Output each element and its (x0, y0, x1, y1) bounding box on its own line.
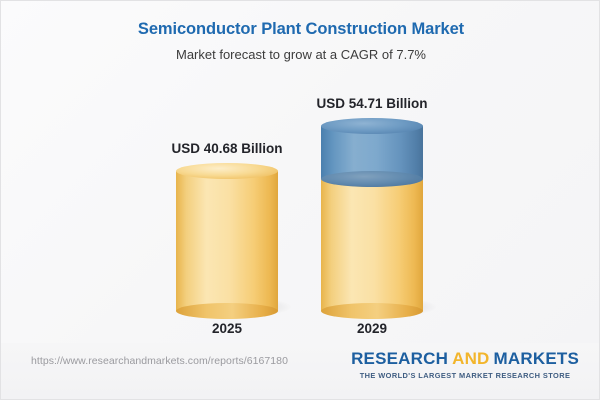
logo-research-text: RESEARCH (351, 349, 448, 368)
chart-plot-area: USD 40.68 Billion 2025 USD 54.71 Billion (1, 1, 600, 400)
cylinder-growth-2029 (321, 118, 423, 187)
footer: https://www.researchandmarkets.com/repor… (1, 343, 600, 399)
logo-and-text: AND (452, 349, 489, 368)
logo-markets-text: MARKETS (494, 349, 579, 368)
cylinder-growth-bottom-2029 (321, 171, 423, 187)
value-label-2029: USD 54.71 Billion (262, 96, 482, 111)
cylinder-top-2025 (176, 163, 278, 179)
cylinder-base-body-2029 (321, 179, 423, 311)
cylinder-growth-top-2029 (321, 118, 423, 134)
cylinder-body-2025 (176, 171, 278, 311)
report-url[interactable]: https://www.researchandmarkets.com/repor… (31, 355, 288, 367)
logo-tagline: THE WORLD'S LARGEST MARKET RESEARCH STOR… (351, 370, 579, 381)
logo-wordmark: RESEARCHANDMARKETS (351, 349, 579, 369)
cylinder-2025 (176, 163, 278, 319)
value-label-2025: USD 40.68 Billion (117, 141, 337, 156)
cylinder-base-2029 (321, 171, 423, 319)
category-label-2029: 2029 (262, 321, 482, 336)
infographic-card: Semiconductor Plant Construction Market … (0, 0, 600, 400)
cylinder-base-bottom-2029 (321, 303, 423, 319)
cylinder-bottom-2025 (176, 303, 278, 319)
research-and-markets-logo[interactable]: RESEARCHANDMARKETS THE WORLD'S LARGEST M… (351, 349, 579, 381)
